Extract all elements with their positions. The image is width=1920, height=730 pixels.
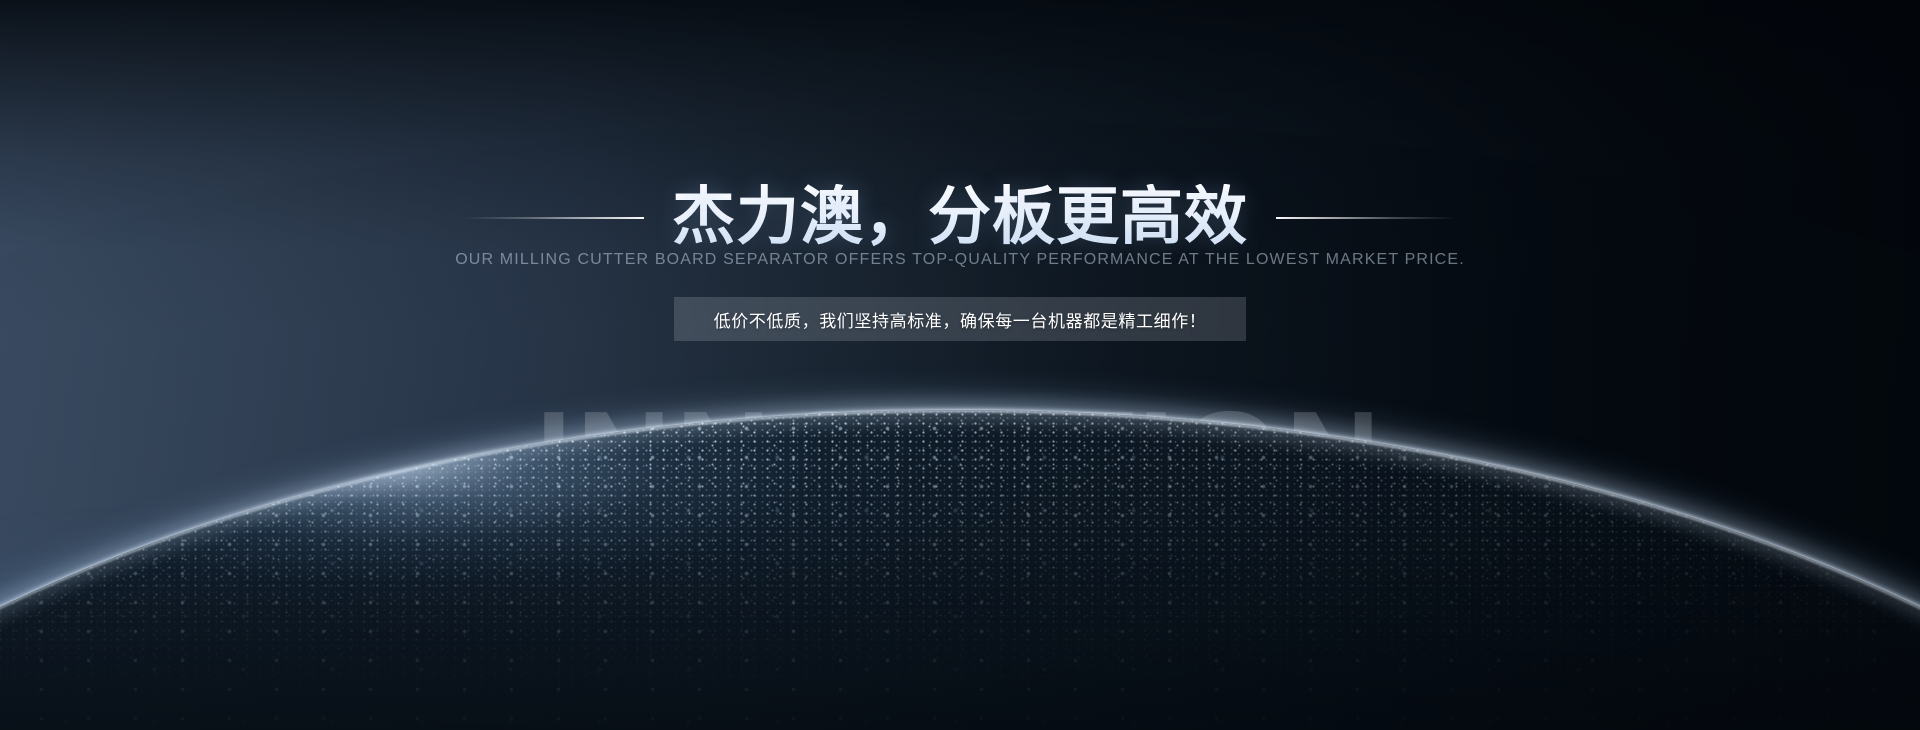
hero-subtitle: OUR MILLING CUTTER BOARD SEPARATOR OFFER… [0, 251, 1920, 269]
hero-content: 杰力澳，分板更高效 OUR MILLING CUTTER BOARD SEPAR… [0, 0, 1920, 730]
promo-banner-text: 低价不低质，我们坚持高标准，确保每一台机器都是精工细作！ [714, 307, 1207, 332]
hero-title: 杰力澳，分板更高效 [672, 184, 1248, 251]
divider-line-left-icon [464, 217, 644, 219]
divider-line-right-icon [1276, 217, 1456, 219]
hero-banner: INNOVATION 杰力澳，分板更高效 OUR MILLING CUTTER … [0, 0, 1920, 730]
hero-title-row: 杰力澳，分板更高效 [0, 142, 1920, 293]
promo-banner: 低价不低质，我们坚持高标准，确保每一台机器都是精工细作！ [674, 297, 1246, 341]
